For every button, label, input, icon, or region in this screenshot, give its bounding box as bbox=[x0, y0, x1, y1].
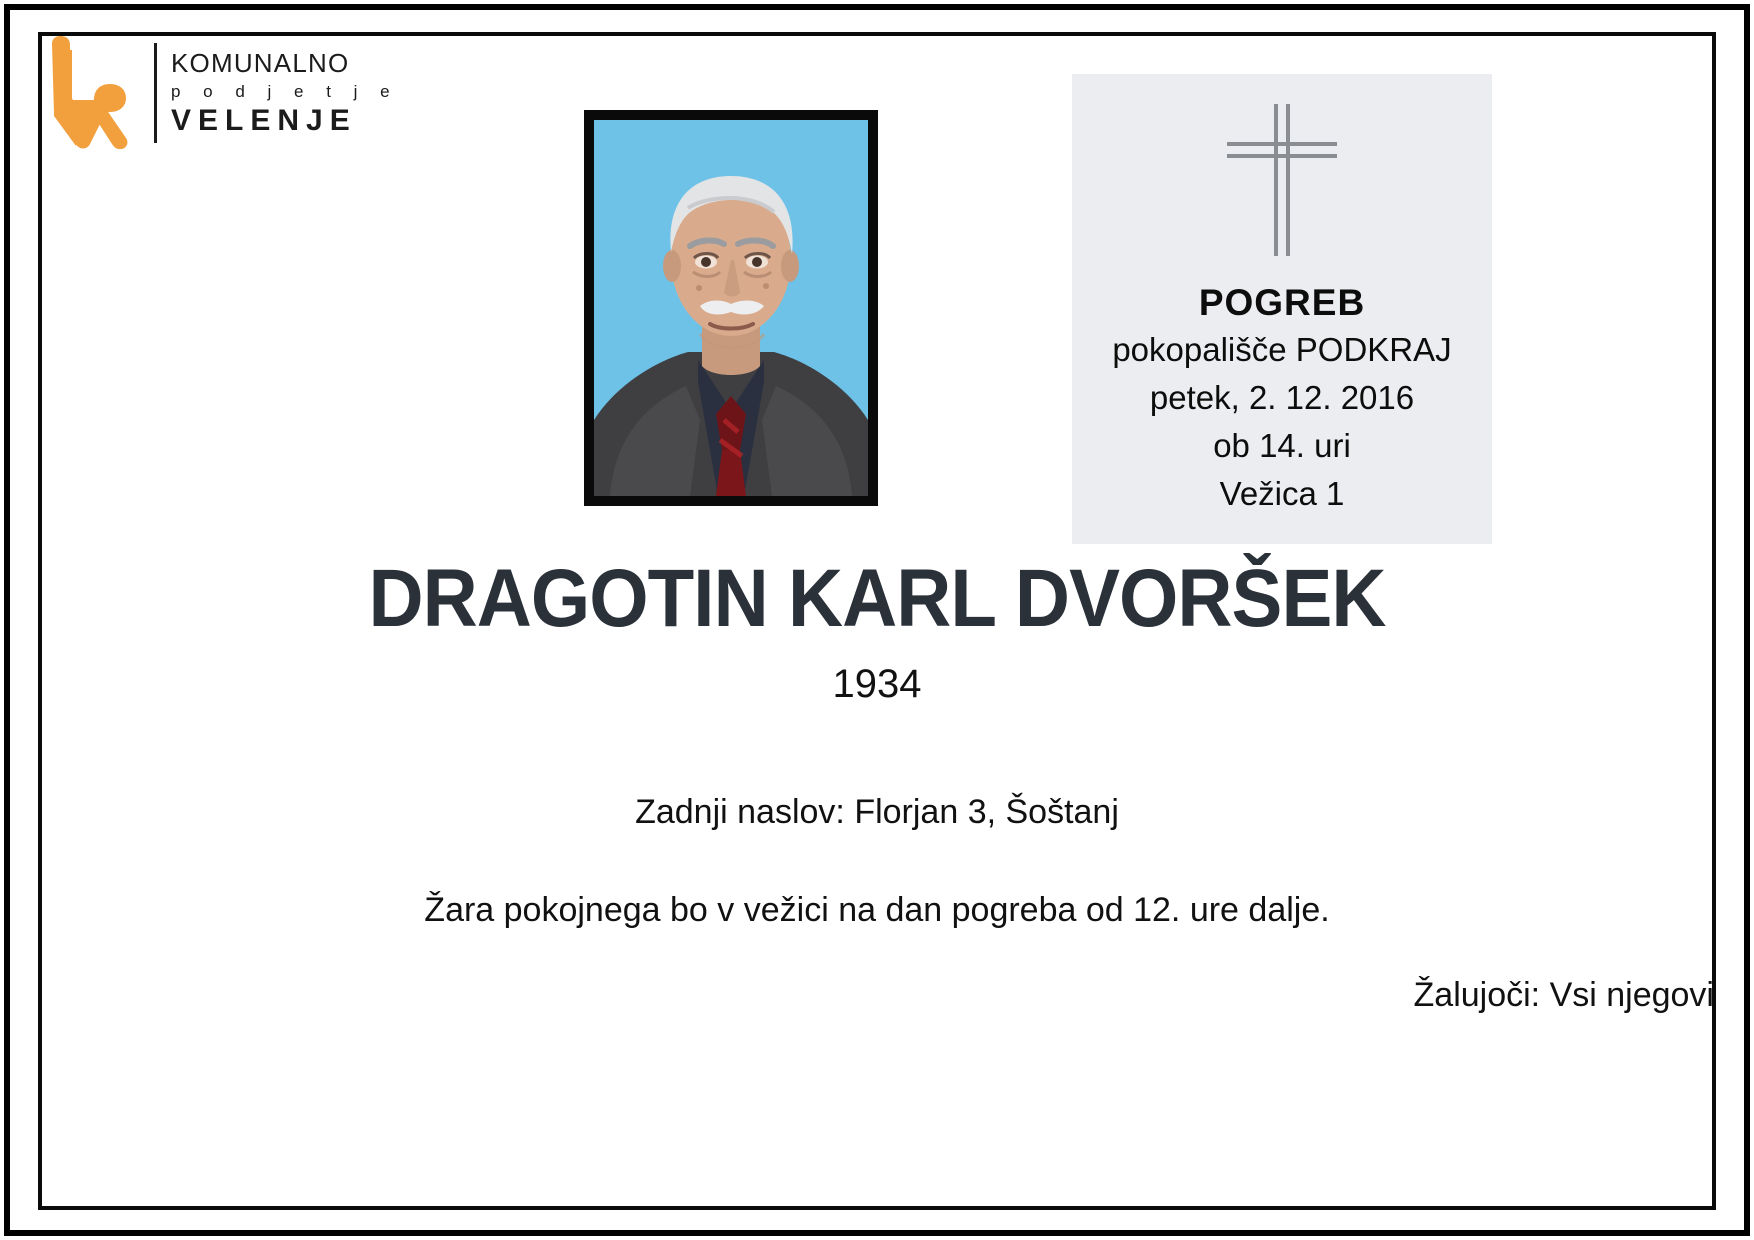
portrait-frame bbox=[584, 110, 878, 506]
birth-year: 1934 bbox=[0, 660, 1754, 708]
last-address: Zadnji naslov: Florjan 3, Šoštanj bbox=[0, 792, 1754, 833]
obituary-notice-card: KOMUNALNO p o d j e t j e VELENJE bbox=[0, 0, 1754, 1240]
logo-line-podjetje: p o d j e t j e bbox=[171, 79, 399, 105]
logo-line-velenje: VELENJE bbox=[171, 104, 399, 137]
mourners-line: Žalujoči: Vsi njegovi bbox=[1414, 975, 1714, 1016]
company-logo: KOMUNALNO p o d j e t j e VELENJE bbox=[42, 34, 399, 152]
funeral-info-panel: POGREB pokopališče PODKRAJ petek, 2. 12.… bbox=[1072, 74, 1492, 544]
portrait-photo bbox=[594, 120, 868, 496]
funeral-time: ob 14. uri bbox=[1213, 422, 1351, 470]
funeral-chapel: Vežica 1 bbox=[1220, 470, 1345, 518]
funeral-heading: POGREB bbox=[1199, 280, 1365, 326]
funeral-cemetery: pokopališče PODKRAJ bbox=[1112, 326, 1451, 374]
urn-note: Žara pokojnega bo v vežici na dan pogreb… bbox=[0, 890, 1754, 931]
deceased-name: DRAGOTIN KARL DVORŠEK bbox=[61, 556, 1692, 642]
logo-wordmark: KOMUNALNO p o d j e t j e VELENJE bbox=[171, 49, 399, 137]
christian-cross-icon bbox=[1217, 94, 1347, 264]
logo-line-komunalno: KOMUNALNO bbox=[171, 49, 399, 79]
logo-divider bbox=[154, 43, 157, 143]
funeral-date: petek, 2. 12. 2016 bbox=[1150, 374, 1414, 422]
komunalno-k-logo-mark-icon bbox=[42, 34, 138, 152]
